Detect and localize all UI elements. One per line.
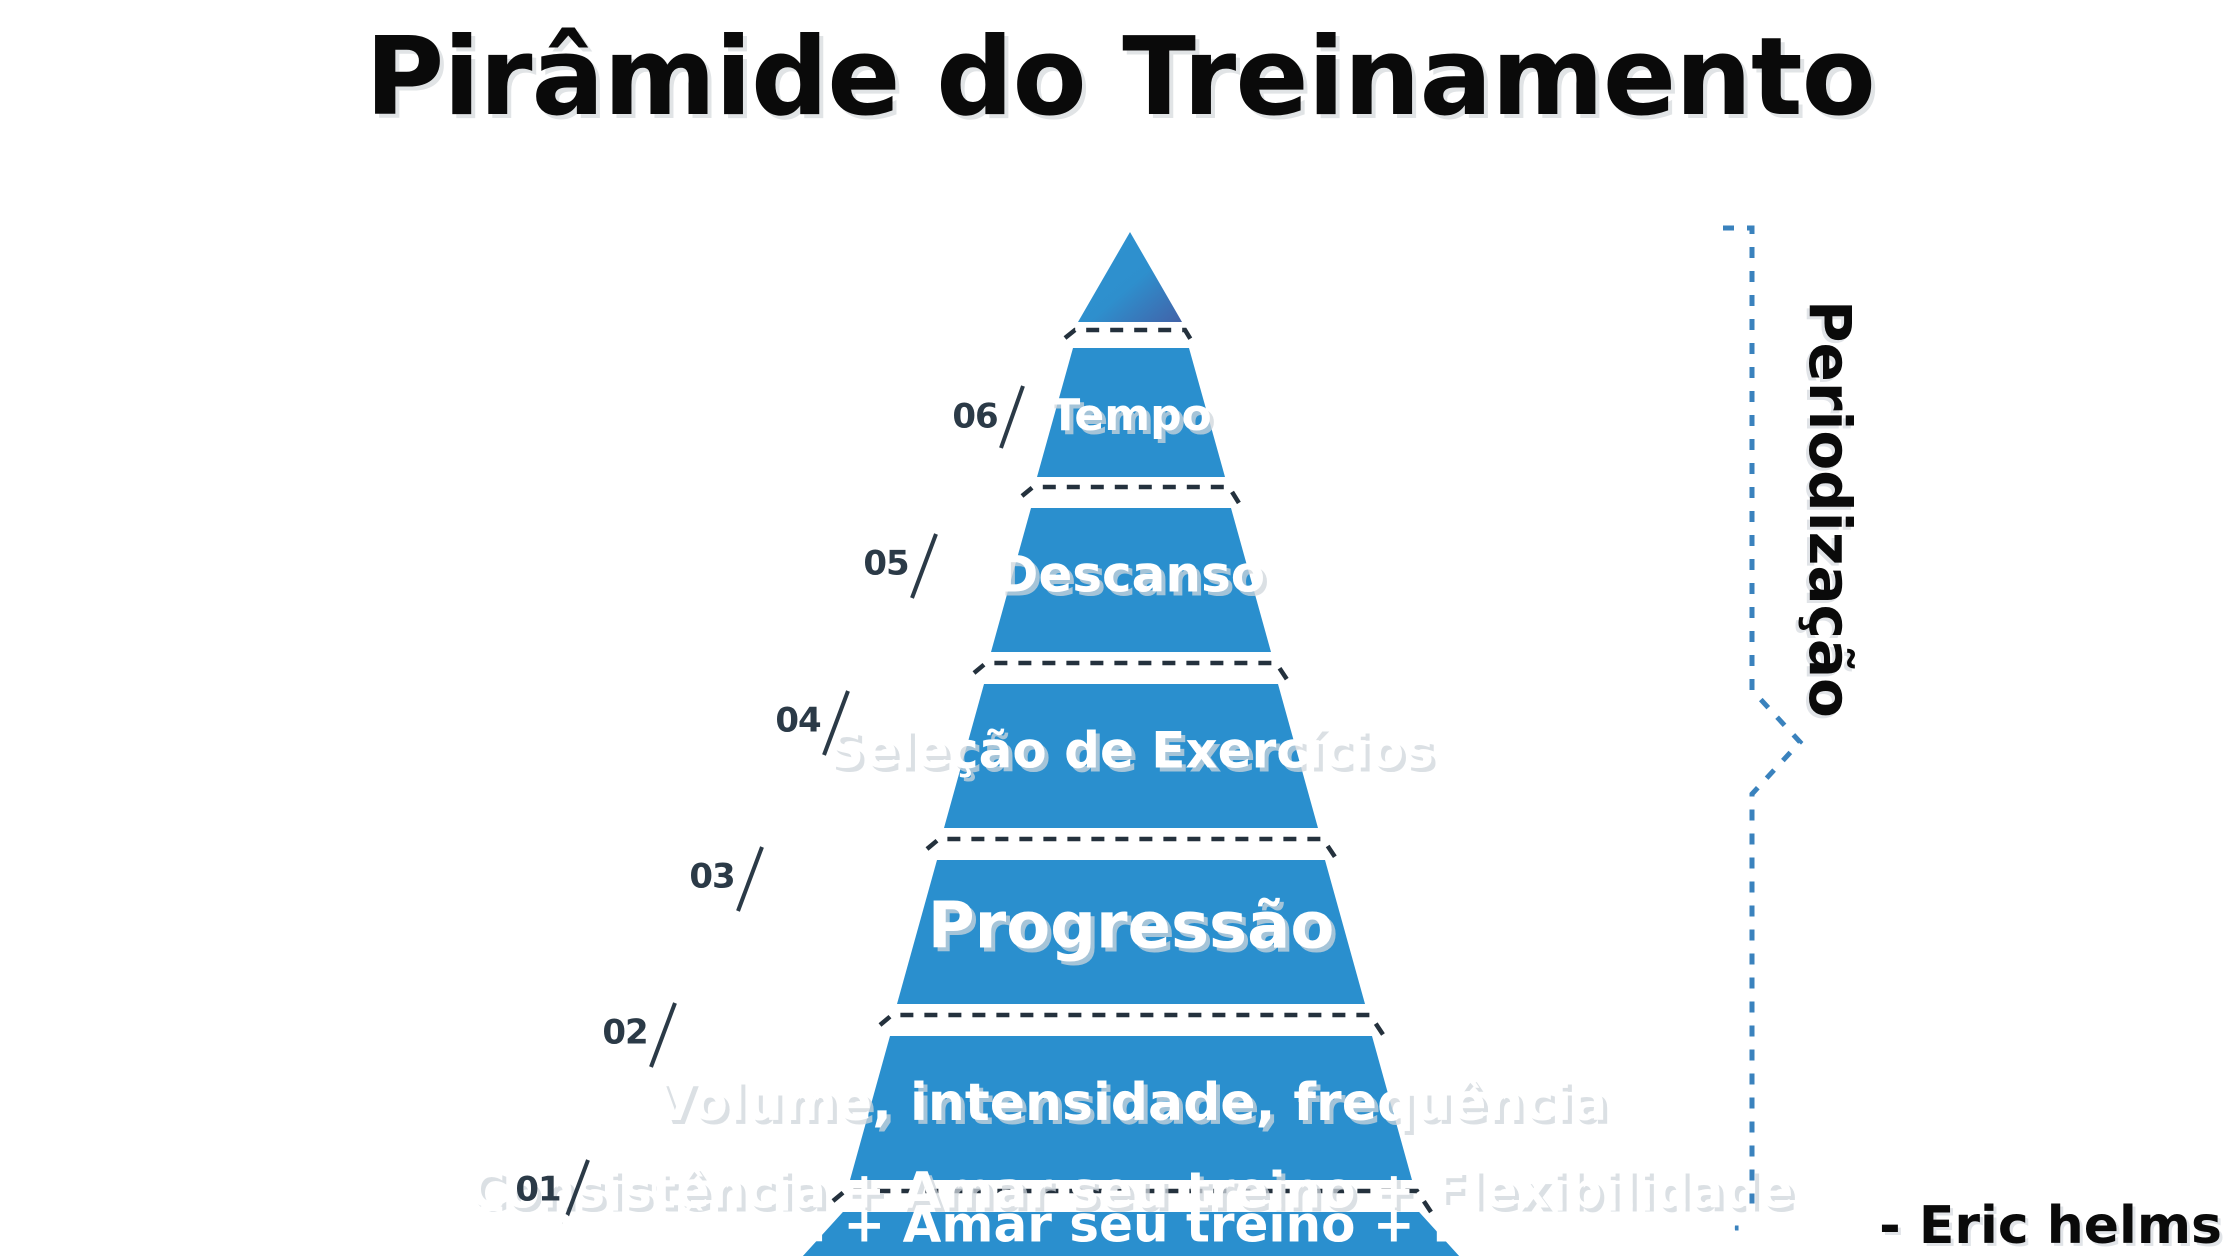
pyramid-level-03[interactable]: Progressão [897,860,1365,1004]
pyramid-step-marker-02: 02 [602,1003,675,1067]
band-separator-4 [974,663,1290,684]
pyramid-step-number-02: 02 [602,1013,647,1053]
pyramid-diagram: Tempo 06 Descanso 05 Seleção de Exercíci… [0,0,2240,1260]
pyramid-level-06[interactable]: Tempo [1037,348,1225,477]
pyramid-band-05-label: Descanso [997,546,1265,604]
pyramid-step-number-01: 01 [515,1170,560,1210]
pyramid-step-marker-05: 05 [863,534,936,598]
periodization-brace [1723,228,1800,1228]
slide-canvas: Pirâmide do Treinamento Tempo 06 [0,0,2240,1260]
pyramid-step-number-03: 03 [689,857,734,897]
pyramid-step-marker-03: 03 [689,847,762,911]
pyramid-band-02-label: Volume, intensidade, frequência [655,1073,1608,1133]
pyramid-level-05[interactable]: Descanso [991,508,1271,652]
pyramid-step-marker-06: 06 [952,386,1023,448]
pyramid-level-01[interactable]: Consistência + Amar seu treino + Flexibi… [469,1162,1794,1257]
band-separator-2 [880,1015,1384,1036]
pyramid-band-04-label: Seleção de Exercícios [828,722,1434,780]
pyramid-step-number-05: 05 [863,544,908,584]
pyramid-band-06-label: Tempo [1050,390,1212,441]
pyramid-band-01-label: Consistência + Amar seu treino + Flexibi… [469,1162,1794,1220]
pyramid-step-number-06: 06 [952,397,997,437]
attribution-text: - Eric helms [1879,1196,2222,1256]
pyramid-apex[interactable] [1078,232,1182,322]
pyramid-step-number-04: 04 [775,701,821,741]
pyramid-level-04[interactable]: Seleção de Exercícios [828,684,1434,828]
periodization-label: Periodização [1790,300,1870,820]
band-separator-5 [1022,487,1242,508]
pyramid-level-02[interactable]: Volume, intensidade, frequência [655,1036,1608,1180]
pyramid-band-03-label: Progressão [928,890,1335,964]
band-separator-6 [1065,330,1196,348]
band-separator-3 [927,839,1337,860]
